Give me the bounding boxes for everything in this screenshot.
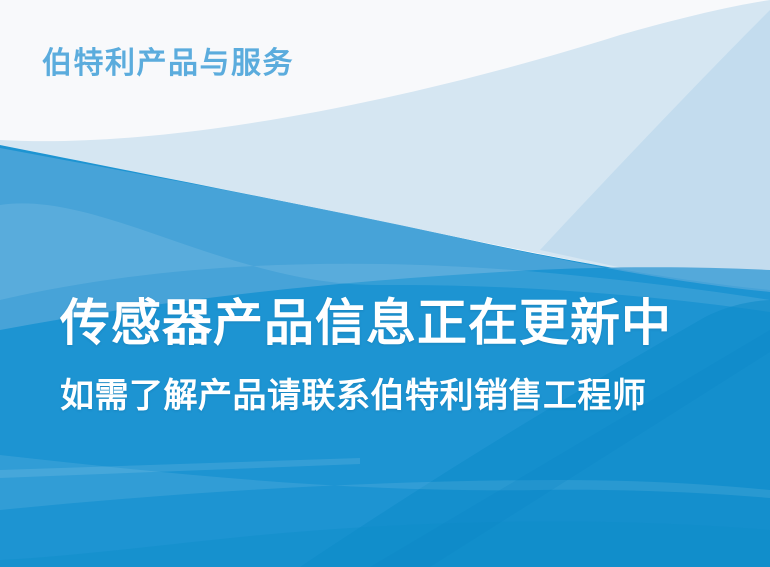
main-heading: 传感器产品信息正在更新中 <box>60 292 672 354</box>
header-brand-title: 伯特利产品与服务 <box>42 44 294 84</box>
product-service-banner: 伯特利产品与服务 传感器产品信息正在更新中 如需了解产品请联系伯特利销售工程师 <box>0 0 770 567</box>
sub-heading: 如需了解产品请联系伯特利销售工程师 <box>60 354 672 418</box>
headline-block: 传感器产品信息正在更新中 如需了解产品请联系伯特利销售工程师 <box>60 292 672 418</box>
decorative-wave-background <box>0 0 770 567</box>
